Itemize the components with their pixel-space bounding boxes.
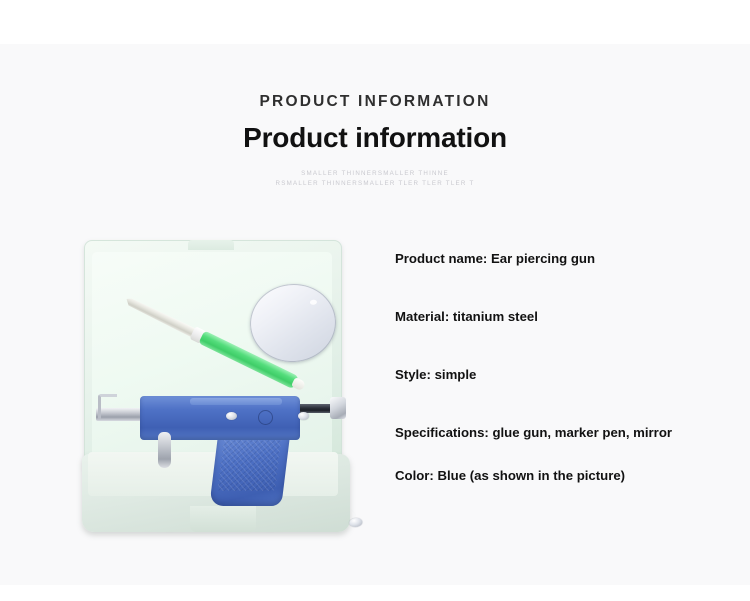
product-image [62,232,362,544]
case-base-latch [190,506,256,532]
decorative-subtitle: SMALLER THINNERSMALLER THINNE RSMALLER T… [0,169,750,188]
gun-logo-icon [258,410,273,425]
section-eyebrow: PRODUCT INFORMATION [0,92,750,112]
spec-material: Material: titanium steel [395,308,695,325]
mirror-glint [310,299,317,305]
decorative-subtitle-line-1: SMALLER THINNERSMALLER THINNE [0,169,750,179]
gun-nose-clip [98,394,117,419]
spec-color: Color: Blue (as shown in the picture) [395,467,695,484]
spec-product-name: Product name: Ear piercing gun [395,250,695,267]
mirror [246,280,340,367]
spec-specifications: Specifications: glue gun, marker pen, mi… [395,424,695,441]
gun-rod-knob [330,397,346,419]
bottom-white-band [0,585,750,601]
gun-grip [209,430,290,506]
gun-screw-rear [298,412,309,420]
page-title: Product information [0,121,750,155]
case-lid-tab [188,240,234,250]
decorative-subtitle-line-2: RSMALLER THINNERSMALLER TLER TLER TLER T [0,179,750,189]
piercing-gun [96,390,346,508]
gun-grip-texture [217,435,282,491]
gun-barrel-top [190,398,282,405]
specification-list: Product name: Ear piercing gun Material:… [395,250,695,484]
gun-screw-front [226,412,237,420]
gun-screw-grip [349,518,363,527]
product-information-page: PRODUCT INFORMATION Product information … [0,0,750,601]
spec-style: Style: simple [395,366,695,383]
gun-trigger [158,432,171,468]
pen-cap [124,296,198,339]
heading-block: PRODUCT INFORMATION Product information … [0,92,750,188]
